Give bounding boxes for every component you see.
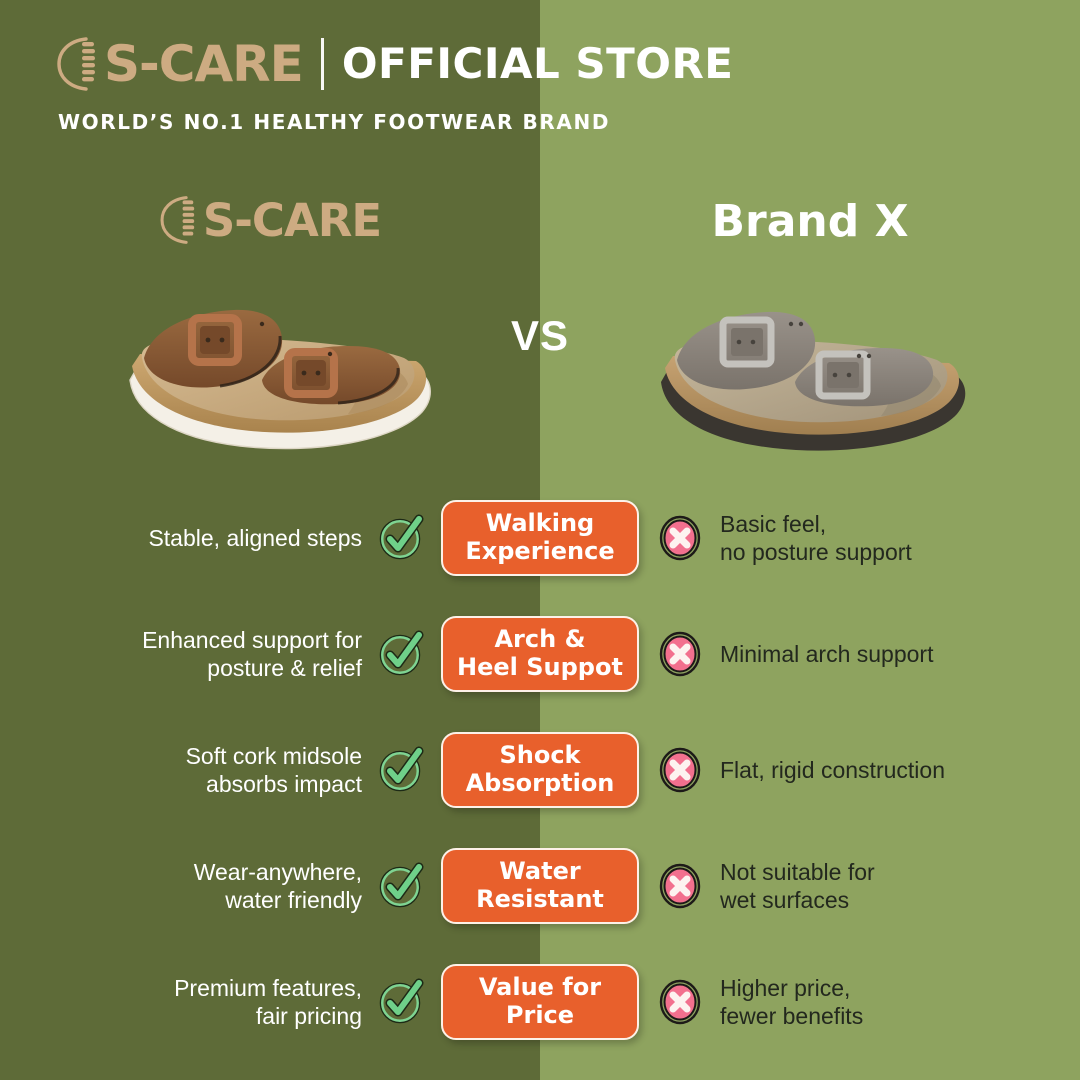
check-circle-icon	[378, 629, 424, 679]
table-row: Premium features, fair pricing Value for…	[0, 959, 1080, 1045]
feature-line: Experience	[465, 537, 614, 565]
con-text-line: Minimal arch support	[720, 640, 1060, 668]
table-row: Enhanced support for posture & relief Ar…	[0, 611, 1080, 697]
x-circle-icon	[658, 629, 702, 679]
pro-text: Wear-anywhere, water friendly	[0, 858, 362, 914]
x-circle-icon	[658, 513, 702, 563]
con-icon-cell	[640, 861, 720, 911]
feature-line: Price	[506, 1001, 574, 1029]
infographic-canvas: S-CARE OFFICIAL STORE WORLD’S NO.1 HEALT…	[0, 0, 1080, 1080]
con-text: Higher price, fewer benefits	[720, 974, 1080, 1030]
pro-text-line: water friendly	[0, 886, 362, 914]
pro-icon-cell	[362, 513, 440, 563]
feature-badge-cell: Value for Price	[440, 964, 640, 1040]
feature-line: Resistant	[476, 885, 604, 913]
table-row: Soft cork midsole absorbs impact Shock A…	[0, 727, 1080, 813]
feature-badge-label: Value for Price	[479, 974, 601, 1030]
feature-line: Heel Suppot	[457, 653, 623, 681]
pro-icon-cell	[362, 629, 440, 679]
con-text: Not suitable for wet surfaces	[720, 858, 1080, 914]
feature-badge[interactable]: Arch & Heel Suppot	[441, 616, 639, 692]
pro-icon-cell	[362, 745, 440, 795]
feature-line: Absorption	[466, 769, 615, 797]
con-text-line: wet surfaces	[720, 886, 1060, 914]
pro-text: Stable, aligned steps	[0, 524, 362, 552]
x-circle-icon	[658, 745, 702, 795]
feature-line: Arch &	[494, 625, 585, 653]
x-circle-icon	[658, 977, 702, 1027]
feature-badge[interactable]: Shock Absorption	[441, 732, 639, 808]
feature-line: Shock	[499, 741, 580, 769]
con-icon-cell	[640, 513, 720, 563]
con-text-line: Higher price,	[720, 974, 1060, 1002]
con-text: Flat, rigid construction	[720, 756, 1080, 784]
comparison-table: Stable, aligned steps Walking Experience	[0, 0, 1080, 1080]
pro-text-line: Enhanced support for	[0, 626, 362, 654]
pro-text-line: Wear-anywhere,	[0, 858, 362, 886]
feature-badge-label: Shock Absorption	[466, 742, 615, 798]
check-circle-icon	[378, 513, 424, 563]
pro-text-line: fair pricing	[0, 1002, 362, 1030]
con-text: Basic feel, no posture support	[720, 510, 1080, 566]
pro-text-line: Stable, aligned steps	[0, 524, 362, 552]
con-icon-cell	[640, 977, 720, 1027]
con-text-line: Flat, rigid construction	[720, 756, 1060, 784]
feature-line: Walking	[486, 509, 595, 537]
feature-badge-label: Water Resistant	[476, 858, 604, 914]
feature-line: Value for	[479, 973, 601, 1001]
feature-badge[interactable]: Value for Price	[441, 964, 639, 1040]
pro-text-line: absorbs impact	[0, 770, 362, 798]
feature-badge-cell: Water Resistant	[440, 848, 640, 924]
feature-badge-cell: Walking Experience	[440, 500, 640, 576]
con-text-line: no posture support	[720, 538, 1060, 566]
feature-badge[interactable]: Water Resistant	[441, 848, 639, 924]
pro-text-line: posture & relief	[0, 654, 362, 682]
check-circle-icon	[378, 745, 424, 795]
feature-line: Water	[499, 857, 580, 885]
check-circle-icon	[378, 861, 424, 911]
pro-text: Soft cork midsole absorbs impact	[0, 742, 362, 798]
table-row: Wear-anywhere, water friendly Water Resi…	[0, 843, 1080, 929]
feature-badge[interactable]: Walking Experience	[441, 500, 639, 576]
feature-badge-cell: Shock Absorption	[440, 732, 640, 808]
con-icon-cell	[640, 745, 720, 795]
con-text-line: fewer benefits	[720, 1002, 1060, 1030]
con-icon-cell	[640, 629, 720, 679]
table-row: Stable, aligned steps Walking Experience	[0, 495, 1080, 581]
pro-text-line: Soft cork midsole	[0, 742, 362, 770]
pro-text: Enhanced support for posture & relief	[0, 626, 362, 682]
pro-text: Premium features, fair pricing	[0, 974, 362, 1030]
con-text: Minimal arch support	[720, 640, 1080, 668]
feature-badge-cell: Arch & Heel Suppot	[440, 616, 640, 692]
feature-badge-label: Arch & Heel Suppot	[457, 626, 623, 682]
pro-icon-cell	[362, 861, 440, 911]
con-text-line: Basic feel,	[720, 510, 1060, 538]
pro-text-line: Premium features,	[0, 974, 362, 1002]
x-circle-icon	[658, 861, 702, 911]
check-circle-icon	[378, 977, 424, 1027]
con-text-line: Not suitable for	[720, 858, 1060, 886]
pro-icon-cell	[362, 977, 440, 1027]
feature-badge-label: Walking Experience	[465, 510, 614, 566]
